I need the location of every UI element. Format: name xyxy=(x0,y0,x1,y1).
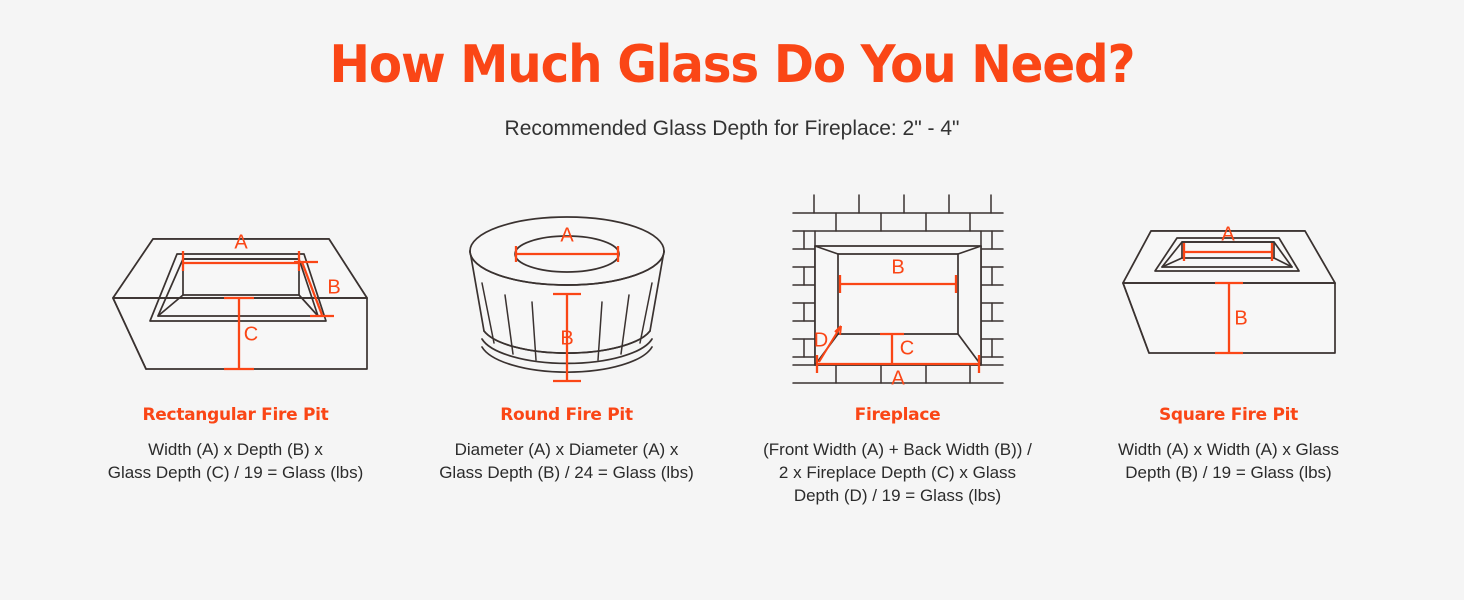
fireplace-title: Fireplace xyxy=(855,405,941,425)
formula-line: Depth (D) / 19 = Glass (lbs) xyxy=(763,484,1032,507)
dimension-label-a: A xyxy=(1221,223,1235,245)
dimension-label-a: A xyxy=(891,367,905,389)
round-fire-pit-title: Round Fire Pit xyxy=(500,405,633,425)
formula-line: Width (A) x Width (A) x Glass xyxy=(1118,438,1339,461)
page-title: How Much Glass Do You Need? xyxy=(51,36,1413,94)
column-fireplace: B A C D Fireplace xyxy=(732,176,1063,507)
formula-line: (Front Width (A) + Back Width (B)) / xyxy=(763,438,1032,461)
formula-line: Width (A) x Depth (B) x xyxy=(108,438,364,461)
dimension-label-a: A xyxy=(560,224,574,246)
page-subtitle: Recommended Glass Depth for Fireplace: 2… xyxy=(0,116,1464,142)
diagram-columns: A B C Rectangular Fire Pit Width (A) x D… xyxy=(0,176,1464,507)
column-rectangular-fire-pit: A B C Rectangular Fire Pit Width (A) x D… xyxy=(70,176,401,484)
dimension-label-b: B xyxy=(891,256,904,278)
column-square-fire-pit: A B Square Fire Pit Width (A) x Width (A… xyxy=(1063,176,1394,484)
square-fire-pit-formula: Width (A) x Width (A) x Glass Depth (B) … xyxy=(1118,438,1339,484)
dimension-label-a: A xyxy=(234,231,248,253)
column-round-fire-pit: A B Round Fire Pit Diameter (A) x Diamet… xyxy=(401,176,732,484)
round-fire-pit-formula: Diameter (A) x Diameter (A) x Glass Dept… xyxy=(439,438,694,484)
fireplace-illustration: B A C D xyxy=(783,176,1013,391)
dimension-label-b: B xyxy=(560,327,573,349)
formula-line: Glass Depth (B) / 24 = Glass (lbs) xyxy=(439,461,694,484)
formula-line: Depth (B) / 19 = Glass (lbs) xyxy=(1118,461,1339,484)
dimension-label-b: B xyxy=(327,276,340,298)
rectangular-fire-pit-formula: Width (A) x Depth (B) x Glass Depth (C) … xyxy=(108,438,364,484)
infographic-page: How Much Glass Do You Need? Recommended … xyxy=(0,0,1464,600)
rectangular-fire-pit-illustration: A B C xyxy=(91,176,381,391)
square-fire-pit-title: Square Fire Pit xyxy=(1159,405,1298,425)
header: How Much Glass Do You Need? Recommended … xyxy=(0,0,1464,142)
dimension-label-c: C xyxy=(243,323,257,345)
round-fire-pit-illustration: A B xyxy=(442,176,692,391)
dimension-label-c: C xyxy=(899,337,913,359)
formula-line: 2 x Fireplace Depth (C) x Glass xyxy=(763,461,1032,484)
formula-line: Diameter (A) x Diameter (A) x xyxy=(439,438,694,461)
formula-line: Glass Depth (C) / 19 = Glass (lbs) xyxy=(108,461,364,484)
dimension-label-d: D xyxy=(813,329,827,351)
dimension-label-b: B xyxy=(1234,307,1247,329)
square-fire-pit-illustration: A B xyxy=(1109,176,1349,391)
rectangular-fire-pit-title: Rectangular Fire Pit xyxy=(143,405,329,425)
fireplace-formula: (Front Width (A) + Back Width (B)) / 2 x… xyxy=(763,438,1032,507)
